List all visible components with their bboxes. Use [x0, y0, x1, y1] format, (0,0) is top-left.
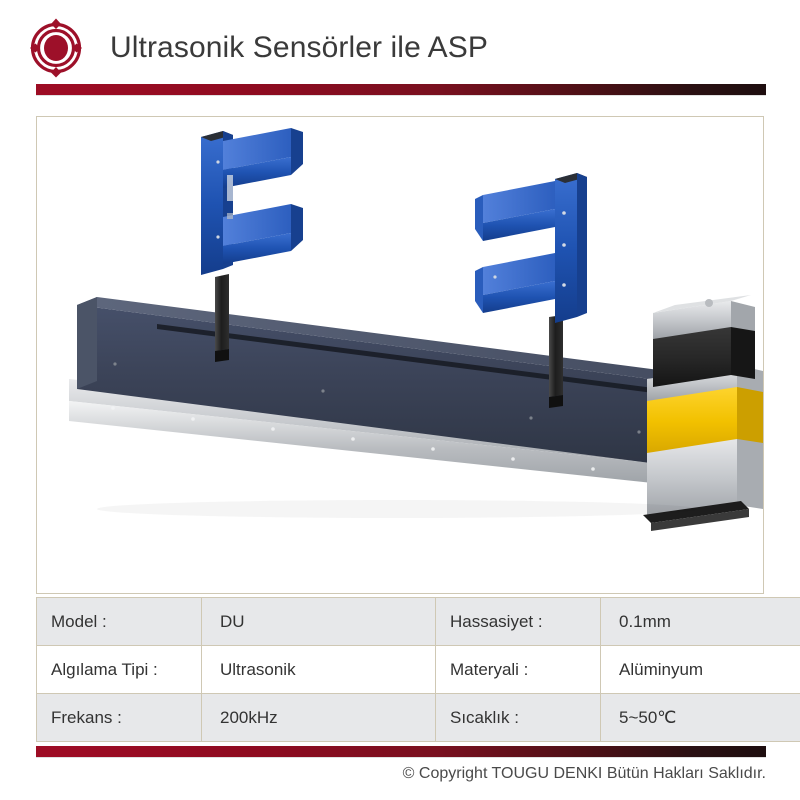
spec-label-materyali: Materyali :	[436, 646, 601, 694]
footer-accent-rule	[36, 746, 766, 757]
spec-value-sicaklik: 5~50℃	[601, 694, 800, 742]
table-row: Algılama Tipi : Ultrasonik Materyali : A…	[37, 646, 800, 694]
specification-table: Model : DU Hassasiyet : 0.1mm Algılama T…	[36, 597, 800, 742]
tougu-denki-logo-icon	[28, 17, 84, 79]
spec-label-sicaklik: Sıcaklık :	[436, 694, 601, 742]
header-accent-rule	[36, 84, 766, 95]
spec-value-algilama-tipi: Ultrasonik	[202, 646, 436, 694]
product-photo	[37, 117, 764, 594]
spec-value-hassasiyet: 0.1mm	[601, 598, 800, 646]
spec-label-frekans: Frekans :	[37, 694, 202, 742]
copyright-text: © Copyright TOUGU DENKI Bütün Hakları Sa…	[403, 765, 766, 783]
stepper-motor	[643, 295, 763, 531]
table-row: Frekans : 200kHz Sıcaklık : 5~50℃	[37, 694, 800, 742]
spec-value-model: DU	[202, 598, 436, 646]
spec-value-frekans: 200kHz	[202, 694, 436, 742]
table-row: Model : DU Hassasiyet : 0.1mm	[37, 598, 800, 646]
page-title: Ultrasonik Sensörler ile ASP	[110, 31, 488, 65]
spec-label-algilama-tipi: Algılama Tipi :	[37, 646, 202, 694]
spec-label-hassasiyet: Hassasiyet :	[436, 598, 601, 646]
product-image-frame	[36, 116, 764, 594]
spec-value-materyali: Alüminyum	[601, 646, 800, 694]
spec-label-model: Model :	[37, 598, 202, 646]
page-header: Ultrasonik Sensörler ile ASP	[0, 0, 800, 96]
